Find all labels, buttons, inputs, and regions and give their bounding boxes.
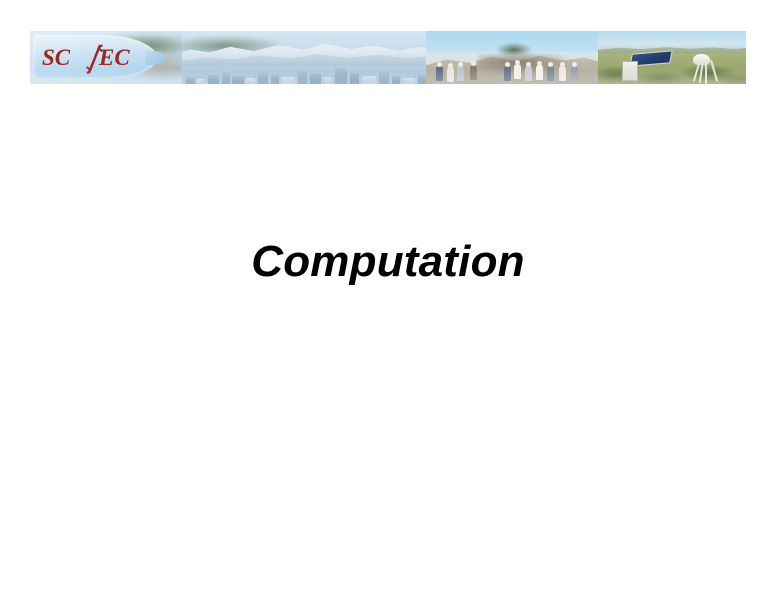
field-trip-person <box>470 65 477 80</box>
field-trip-person <box>514 64 521 79</box>
banner-photo-strip: SC EC <box>30 31 746 84</box>
scec-logo-text: SC EC <box>42 44 154 74</box>
shrub <box>495 42 533 56</box>
scec-logo-ec-text: EC <box>99 44 130 71</box>
scec-logo: SC EC <box>33 35 157 79</box>
scec-logo-sc-text: SC <box>42 44 70 71</box>
hillside-vegetation <box>598 53 746 84</box>
satellite-terrain-photo: SC EC <box>30 31 182 84</box>
field-trip-person <box>536 65 543 80</box>
instrument-enclosure <box>622 61 638 81</box>
slide-canvas: SC EC <box>0 0 776 600</box>
field-trip-outcrop-photo <box>426 31 598 84</box>
field-trip-person <box>525 66 532 81</box>
field-trip-person <box>571 66 578 81</box>
gps-monument-leg <box>705 60 707 84</box>
field-trip-person <box>504 66 511 81</box>
field-trip-person <box>559 66 566 81</box>
field-trip-person <box>436 66 443 81</box>
field-trip-person <box>457 66 464 81</box>
mountains-city-skyline-photo <box>182 31 426 84</box>
field-trip-person <box>547 66 554 81</box>
page-title: Computation <box>0 236 776 288</box>
scec-header-banner: SC EC <box>30 31 746 84</box>
city-skyline <box>182 61 426 84</box>
instrument-station-photo <box>598 31 746 84</box>
field-trip-person <box>447 67 454 82</box>
